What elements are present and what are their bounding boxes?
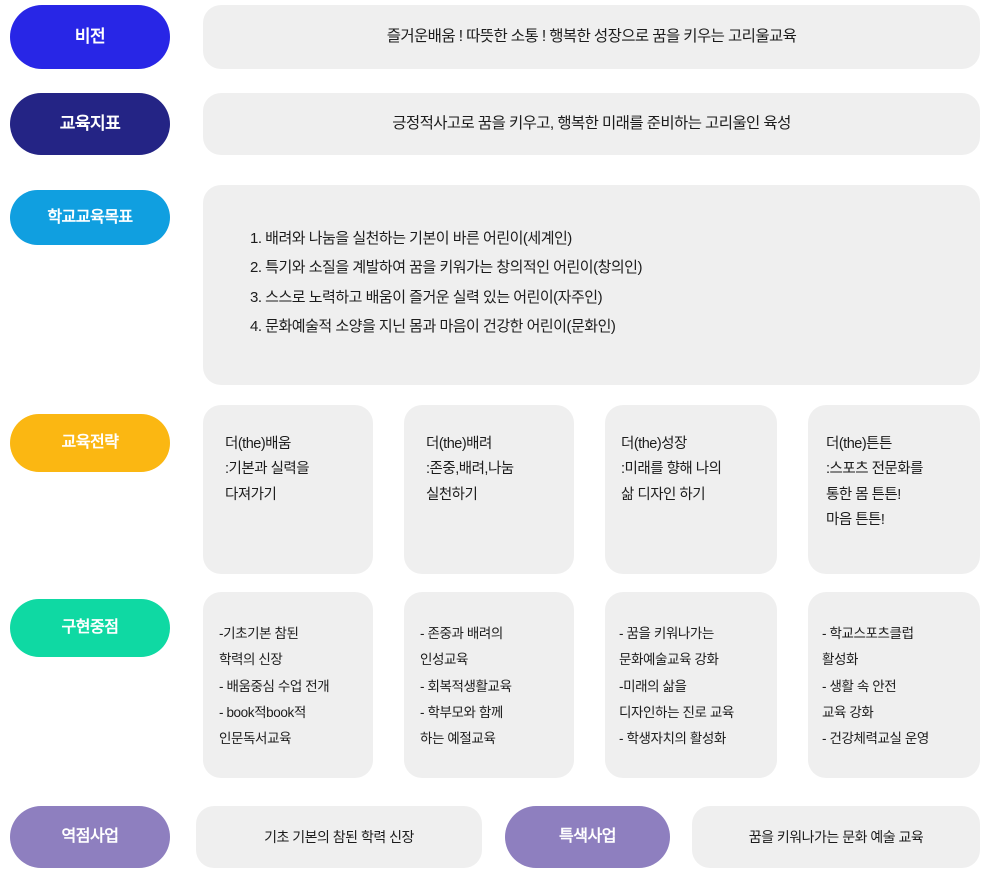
- pill-vision-label: 비전: [75, 28, 105, 47]
- vision-content-box: 즐거운배움 ! 따뜻한 소통 ! 행복한 성장으로 꿈을 키우는 고리울교육: [203, 5, 980, 69]
- goal-item: 2. 특기와 소질을 계발하여 꿈을 키워가는 창의적인 어린이(창의인): [250, 253, 950, 282]
- pill-indicator[interactable]: 교육지표: [10, 93, 170, 155]
- pill-special-project-label: 특색사업: [559, 828, 616, 846]
- pill-key-project[interactable]: 역점사업: [10, 806, 170, 868]
- pill-strategy-label: 교육전략: [62, 434, 119, 452]
- key-project-content-text: 기초 기본의 참된 학력 신장: [264, 827, 414, 847]
- indicator-content-box: 긍정적사고로 꿈을 키우고, 행복한 미래를 준비하는 고리울인 육성: [203, 93, 980, 155]
- pill-school-goals-label: 학교교육목표: [47, 209, 132, 227]
- special-project-content-text: 꿈을 키워나가는 문화 예술 교육: [749, 827, 924, 847]
- strategy-card-text: 더(the)성장 :미래를 향해 나의 삶 디자인 하기: [621, 432, 781, 508]
- pill-special-project[interactable]: 특색사업: [505, 806, 670, 868]
- focus-card-text: - 학교스포츠클럽 활성화 - 생활 속 안전 교육 강화 - 건강체력교실 운…: [822, 621, 988, 753]
- key-project-content-box: 기초 기본의 참된 학력 신장: [196, 806, 482, 868]
- pill-school-goals[interactable]: 학교교육목표: [10, 190, 170, 245]
- education-plan-diagram: 비전 즐거운배움 ! 따뜻한 소통 ! 행복한 성장으로 꿈을 키우는 고리울교…: [0, 0, 994, 895]
- strategy-card-text: 더(the)배움 :기본과 실력을 다져가기: [225, 432, 375, 508]
- focus-card-text: -기초기본 참된 학력의 신장 - 배움중심 수업 전개 - book적book…: [219, 621, 379, 753]
- pill-vision[interactable]: 비전: [10, 5, 170, 69]
- pill-indicator-label: 교육지표: [60, 115, 121, 134]
- pill-strategy[interactable]: 교육전략: [10, 414, 170, 472]
- strategy-card-text: 더(the)배려 :존중,배려,나눔 실천하기: [426, 432, 576, 508]
- school-goals-list: 1. 배려와 나눔을 실천하는 기본이 바른 어린이(세계인) 2. 특기와 소…: [250, 224, 950, 341]
- goal-item: 4. 문화예술적 소양을 지닌 몸과 마음이 건강한 어린이(문화인): [250, 312, 950, 341]
- pill-focus-label: 구현중점: [62, 619, 119, 637]
- focus-card-text: - 존중과 배려의 인성교육 - 회복적생활교육 - 학부모와 함께 하는 예절…: [420, 621, 580, 753]
- goal-item: 1. 배려와 나눔을 실천하는 기본이 바른 어린이(세계인): [250, 224, 950, 253]
- goal-item: 3. 스스로 노력하고 배움이 즐거운 실력 있는 어린이(자주인): [250, 283, 950, 312]
- focus-card-text: - 꿈을 키워나가는 문화예술교육 강화 -미래의 삶을 디자인하는 진로 교육…: [619, 621, 785, 753]
- pill-focus[interactable]: 구현중점: [10, 599, 170, 657]
- special-project-content-box: 꿈을 키워나가는 문화 예술 교육: [692, 806, 980, 868]
- strategy-card-text: 더(the)튼튼 :스포츠 전문화를 통한 몸 튼튼! 마음 튼튼!: [826, 432, 986, 534]
- pill-key-project-label: 역점사업: [62, 828, 119, 846]
- indicator-content-text: 긍정적사고로 꿈을 키우고, 행복한 미래를 준비하는 고리울인 육성: [392, 113, 790, 135]
- vision-content-text: 즐거운배움 ! 따뜻한 소통 ! 행복한 성장으로 꿈을 키우는 고리울교육: [387, 26, 797, 48]
